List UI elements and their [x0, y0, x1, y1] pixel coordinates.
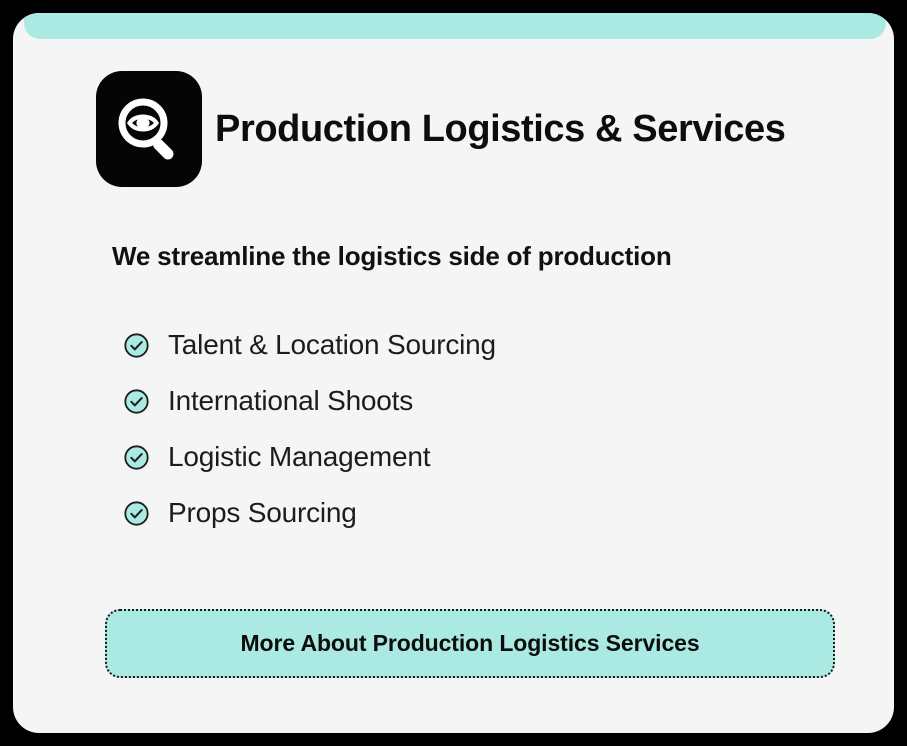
- service-card: Production Logistics & Services We strea…: [13, 13, 894, 733]
- feature-label: Props Sourcing: [168, 499, 357, 527]
- feature-label: Logistic Management: [168, 443, 430, 471]
- more-about-production-logistics-button[interactable]: More About Production Logistics Services: [105, 609, 835, 678]
- list-item: International Shoots: [123, 379, 823, 423]
- page-title: Production Logistics & Services: [215, 110, 785, 148]
- magnifier-eye-icon: [113, 93, 185, 165]
- check-circle-icon: [123, 444, 150, 471]
- feature-label: Talent & Location Sourcing: [168, 331, 496, 359]
- accent-bar: [24, 13, 886, 39]
- card-header: Production Logistics & Services: [96, 71, 785, 187]
- list-item: Props Sourcing: [123, 491, 823, 535]
- cta-label: More About Production Logistics Services: [240, 630, 699, 657]
- outer-frame: Production Logistics & Services We strea…: [0, 0, 907, 746]
- check-circle-icon: [123, 500, 150, 527]
- logo-tile: [96, 71, 202, 187]
- subheading: We streamline the logistics side of prod…: [112, 241, 672, 272]
- check-circle-icon: [123, 388, 150, 415]
- feature-label: International Shoots: [168, 387, 413, 415]
- feature-list: Talent & Location Sourcing International…: [123, 323, 823, 547]
- list-item: Logistic Management: [123, 435, 823, 479]
- check-circle-icon: [123, 332, 150, 359]
- list-item: Talent & Location Sourcing: [123, 323, 823, 367]
